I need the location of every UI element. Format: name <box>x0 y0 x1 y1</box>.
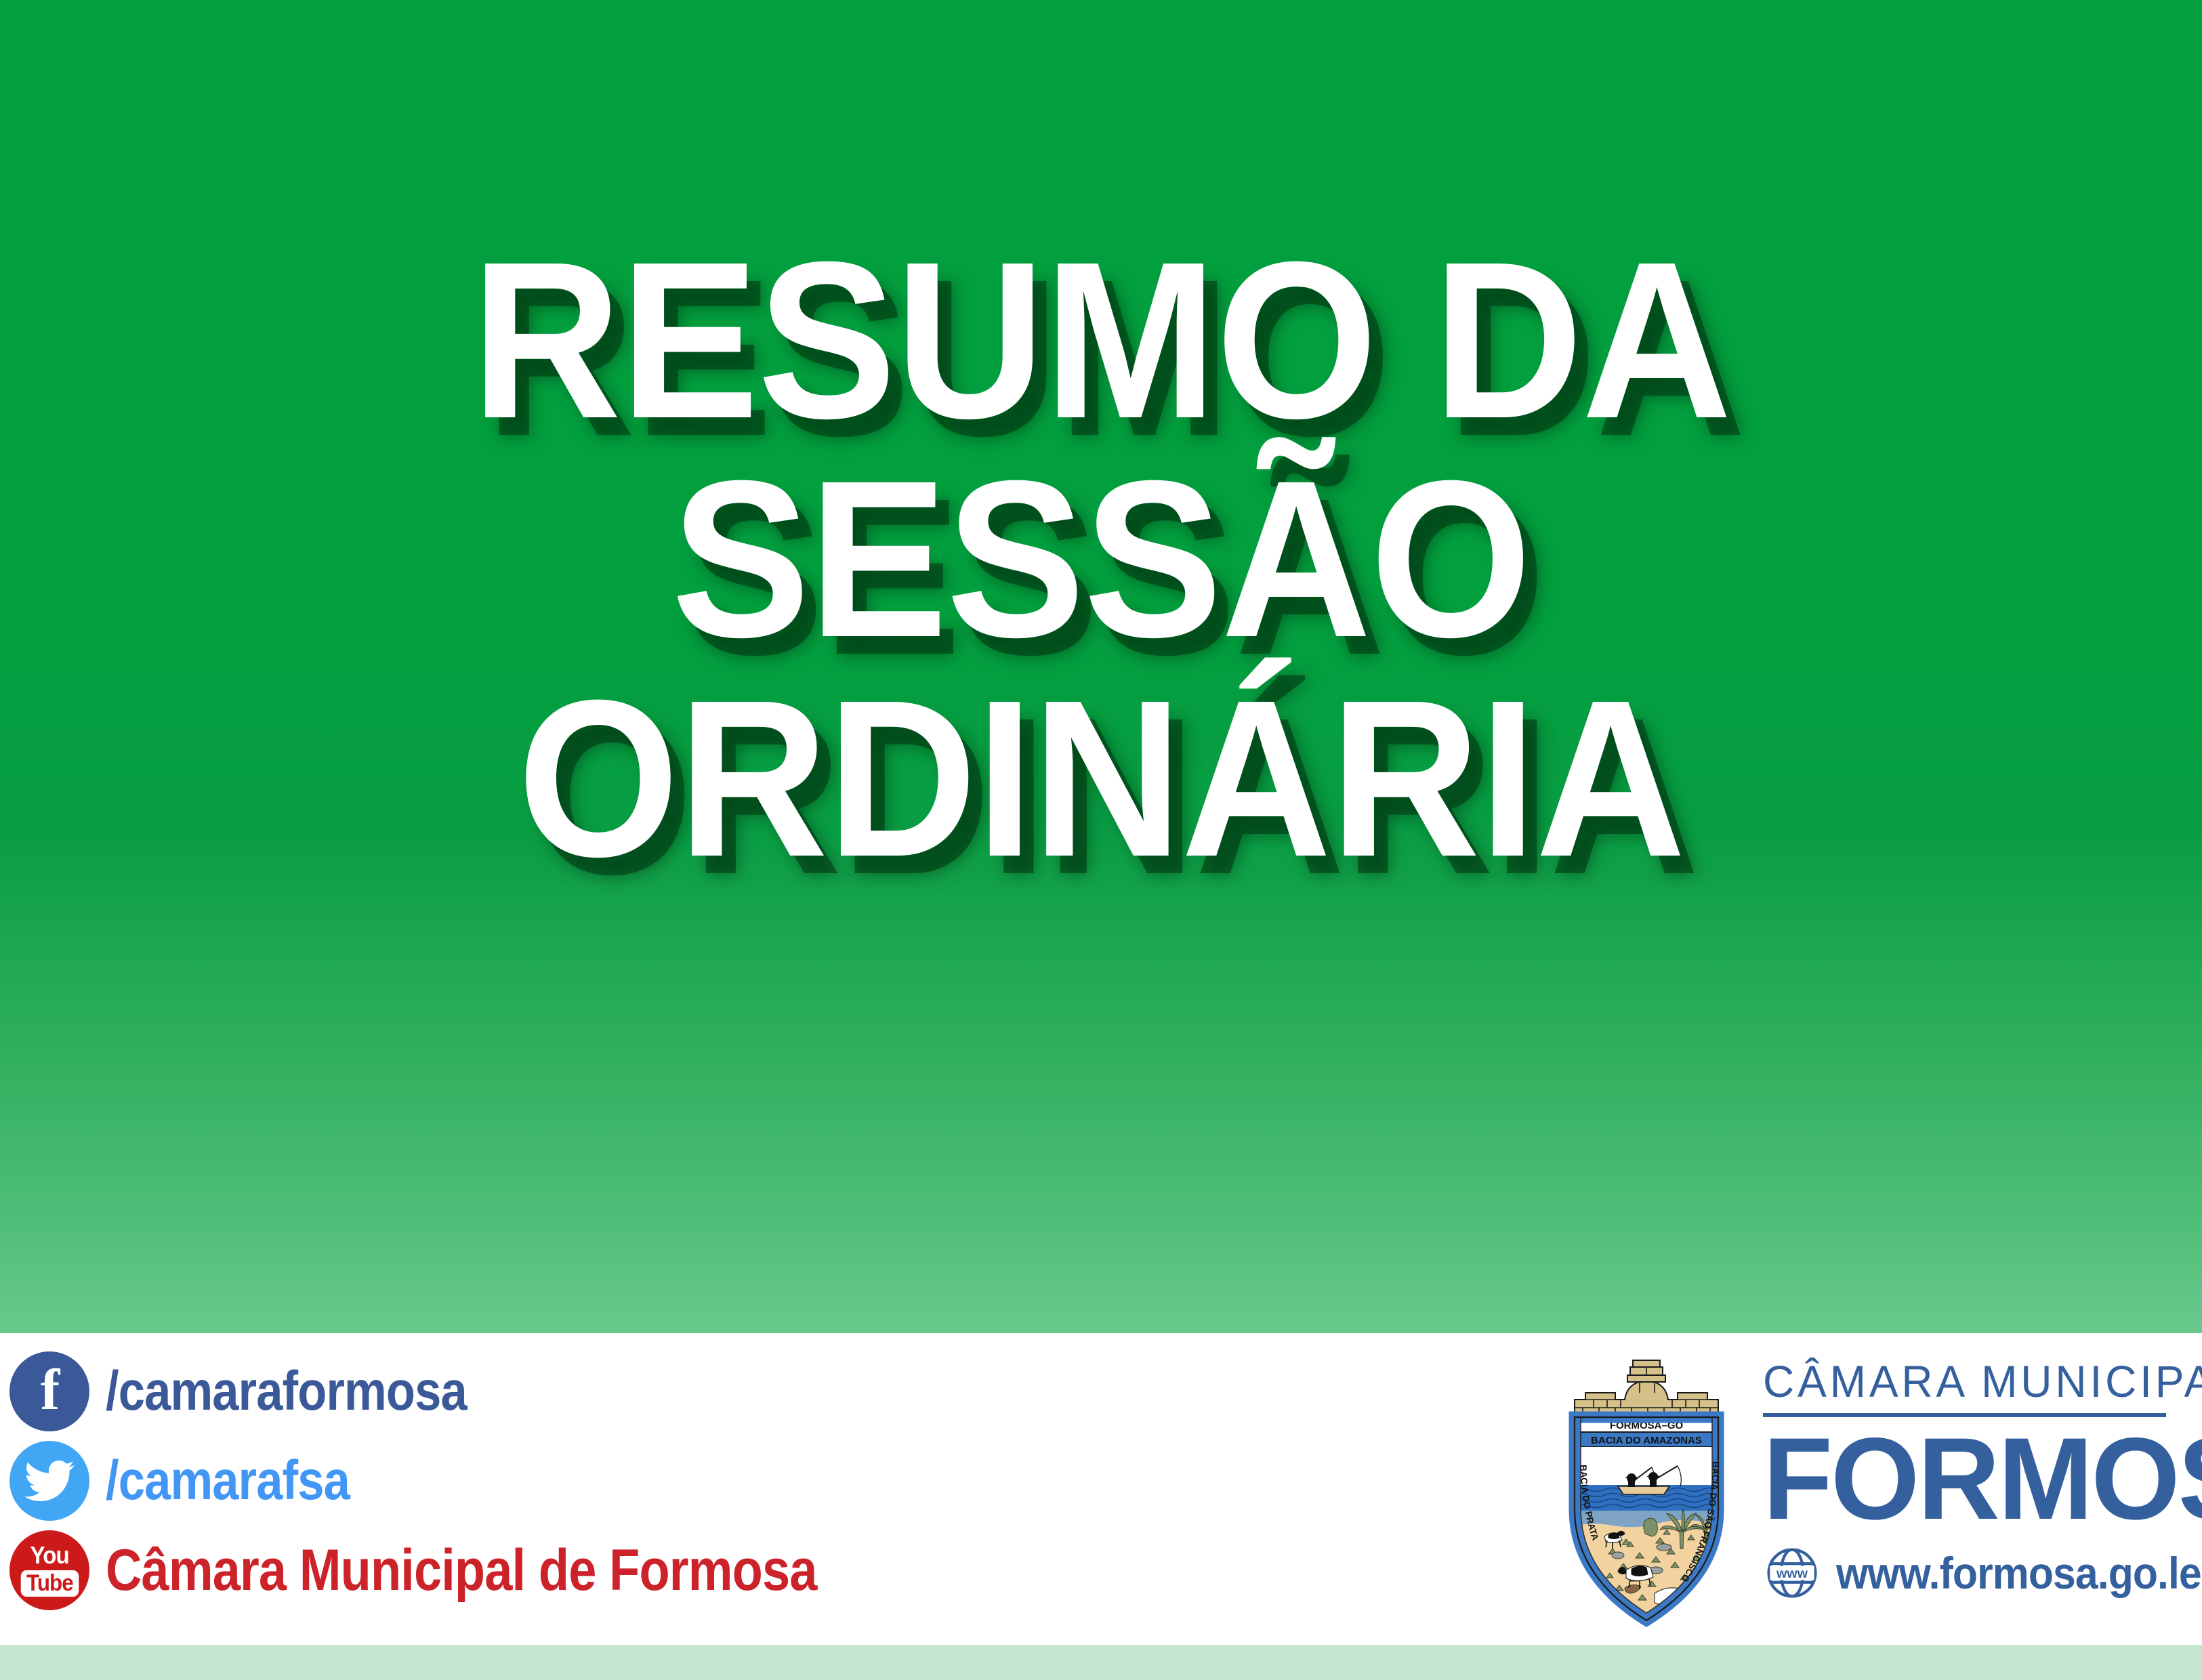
page-title: RESUMO DA SESSÃO ORDINÁRIA <box>77 230 2125 887</box>
poster-root: RESUMO DA SESSÃO ORDINÁRIA f /camaraform… <box>0 0 2202 1680</box>
facebook-handle: /camaraformosa <box>106 1360 467 1423</box>
youtube-wordmark: You Tube <box>18 1543 81 1597</box>
hero-background: RESUMO DA SESSÃO ORDINÁRIA <box>0 0 2202 1333</box>
twitter-handle: /camarafsa <box>106 1449 350 1513</box>
basin-banner: BACIA DO AMAZONAS <box>1575 1432 1718 1447</box>
www-globe-icon: www <box>1763 1544 1821 1602</box>
website-url: www.formosa.go.leg.br <box>1836 1547 2202 1599</box>
youtube-channel-name: Câmara Municipal de Formosa <box>106 1537 816 1604</box>
coat-of-arms-svg: FORMOSA–GO BACIA DO AMAZONAS <box>1545 1352 1748 1630</box>
brand-text-block: CÂMARA MUNICIPAL FORMOSA www www.formosa… <box>1763 1347 2183 1602</box>
youtube-tube-text: Tube <box>20 1570 78 1597</box>
social-row-youtube[interactable]: You Tube Câmara Municipal de Formosa <box>9 1526 1026 1615</box>
brand-main-line: FORMOSA <box>1763 1424 2175 1534</box>
website-row[interactable]: www www.formosa.go.leg.br <box>1763 1544 2183 1602</box>
twitter-bird-glyph <box>24 1456 75 1506</box>
twitter-icon[interactable] <box>9 1441 89 1521</box>
globe-www-text: www <box>1776 1566 1808 1581</box>
castle-wall <box>1575 1360 1718 1417</box>
youtube-you-text: You <box>30 1543 68 1568</box>
facebook-icon[interactable]: f <box>9 1351 89 1431</box>
social-row-facebook[interactable]: f /camaraformosa <box>9 1347 1026 1436</box>
brand-logo-block: FORMOSA–GO BACIA DO AMAZONAS <box>1545 1347 2195 1638</box>
coat-of-arms-icon: FORMOSA–GO BACIA DO AMAZONAS <box>1545 1352 1748 1630</box>
basin-banner-text: BACIA DO AMAZONAS <box>1591 1435 1702 1446</box>
social-links: f /camaraformosa /camarafsa You Tube Câm… <box>9 1347 1026 1615</box>
youtube-icon[interactable]: You Tube <box>9 1530 89 1610</box>
facebook-f-glyph: f <box>41 1360 60 1419</box>
bottom-accent-bar <box>0 1645 2202 1680</box>
social-row-twitter[interactable]: /camarafsa <box>9 1436 1026 1526</box>
brand-top-line: CÂMARA MUNICIPAL <box>1763 1359 2170 1404</box>
